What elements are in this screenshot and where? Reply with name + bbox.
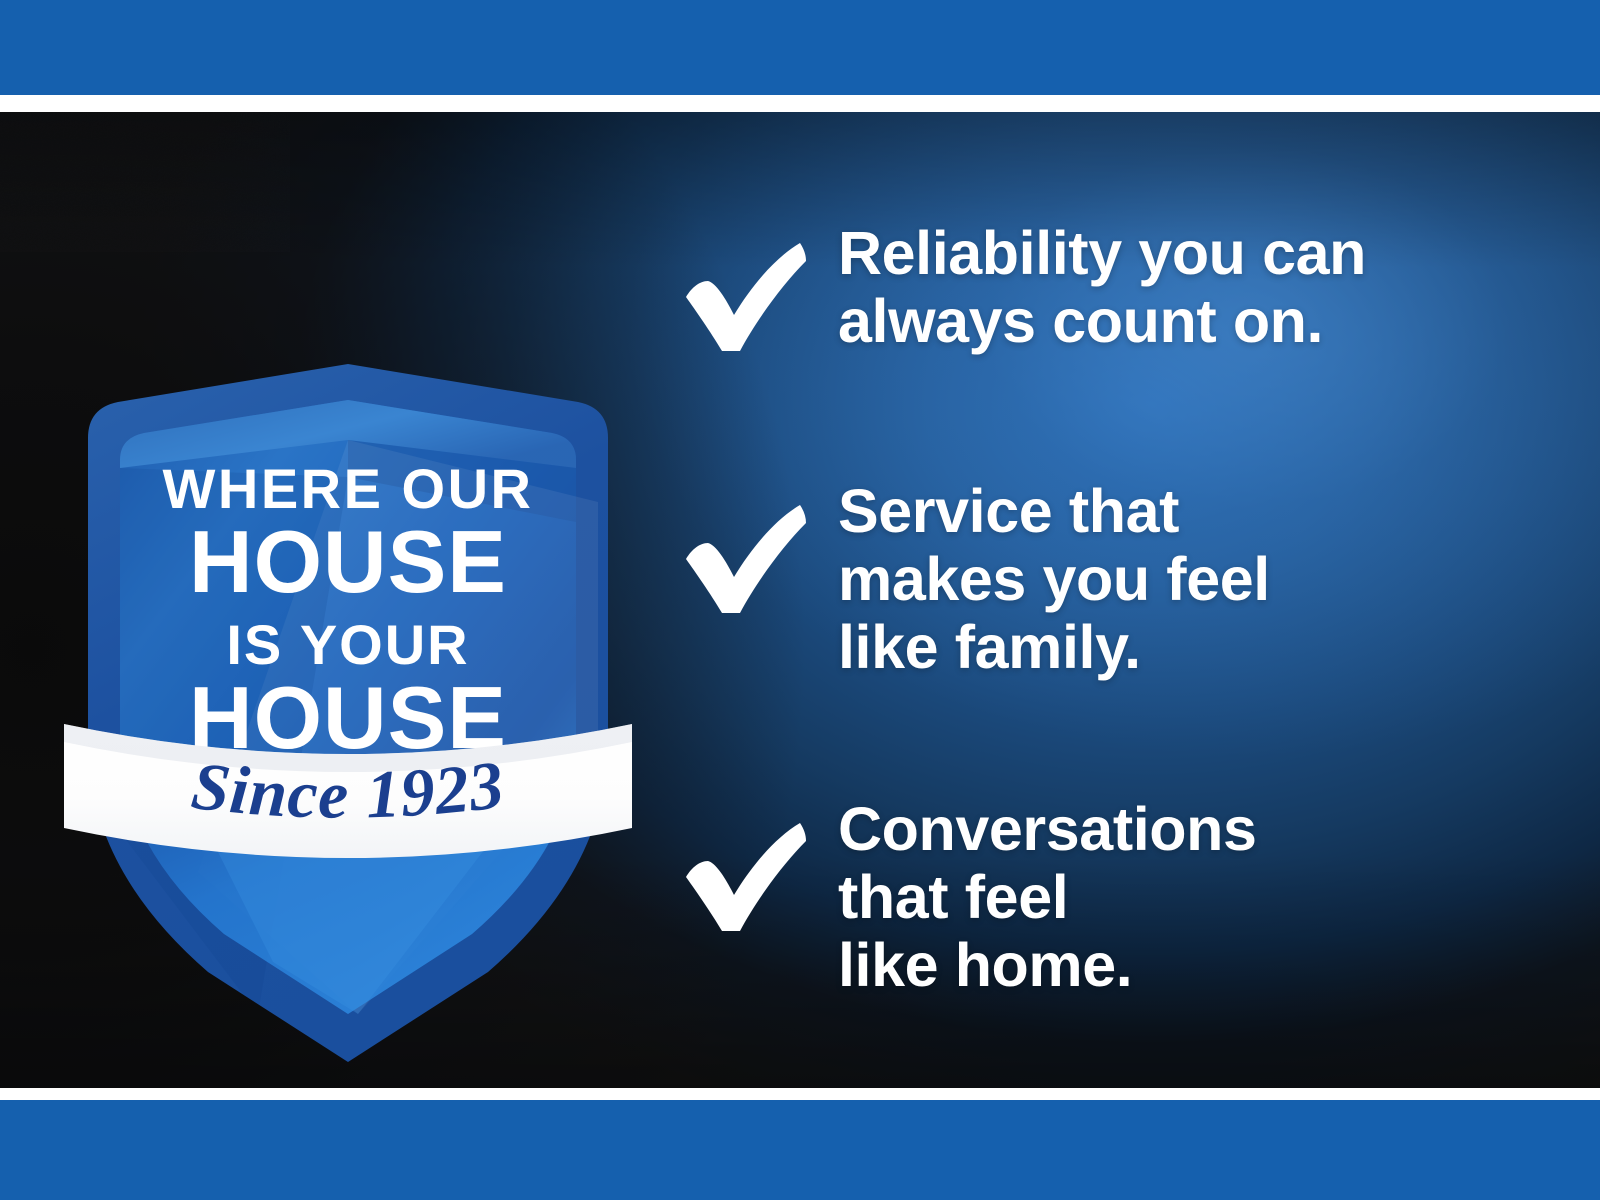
background-grain-texture (0, 112, 290, 252)
benefit-text: Service that makes you feel like family. (838, 477, 1270, 681)
benefit-line: always count on. (838, 287, 1366, 355)
benefit-line: makes you feel (838, 545, 1270, 613)
benefit-item-service: Service that makes you feel like family. (672, 477, 1270, 681)
shield-line-1: WHERE OUR (163, 457, 534, 520)
shield-badge: WHERE OUR HOUSE IS YOUR HOUSE Since 1923 (58, 272, 638, 1062)
benefit-line: Reliability you can (838, 219, 1366, 287)
benefit-line: like home. (838, 931, 1257, 999)
promo-graphic: WHERE OUR HOUSE IS YOUR HOUSE Since 1923 (0, 0, 1600, 1200)
check-icon (672, 237, 812, 355)
benefit-line: Conversations (838, 795, 1257, 863)
check-icon (672, 817, 812, 935)
benefit-line: that feel (838, 863, 1257, 931)
main-canvas: WHERE OUR HOUSE IS YOUR HOUSE Since 1923 (0, 112, 1600, 1088)
shield-line-2: HOUSE (189, 512, 507, 611)
benefit-text: Conversations that feel like home. (838, 795, 1257, 999)
benefit-line: Service that (838, 477, 1270, 545)
top-brand-bar (0, 0, 1600, 95)
benefit-item-conversations: Conversations that feel like home. (672, 795, 1257, 999)
benefit-text: Reliability you can always count on. (838, 219, 1366, 355)
badge-banner-text: Since 1923 (188, 746, 509, 833)
bottom-brand-bar (0, 1100, 1600, 1200)
check-icon (672, 499, 812, 617)
shield-line-3: IS YOUR (226, 613, 469, 676)
benefit-line: like family. (838, 613, 1270, 681)
benefit-item-reliability: Reliability you can always count on. (672, 219, 1366, 355)
